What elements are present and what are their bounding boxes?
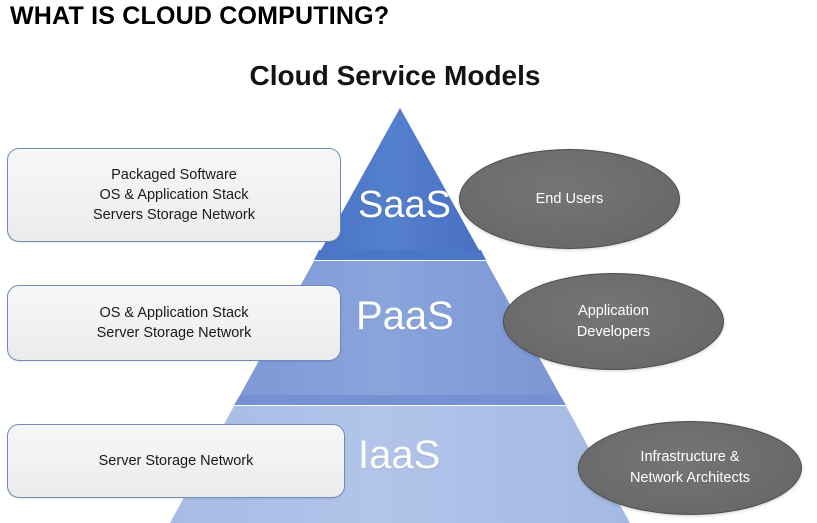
audience-ellipse-saas: End Users	[459, 149, 680, 249]
tier-label-paas: PaaS	[356, 296, 454, 336]
audience-line: End Users	[536, 189, 604, 210]
callout-box-iaas: Server Storage Network	[7, 424, 345, 498]
callout-line: Server Storage Network	[99, 451, 254, 471]
audience-line: Developers	[577, 322, 650, 343]
audience-text-paas: Application Developers	[577, 301, 650, 342]
callout-line: Servers Storage Network	[93, 205, 255, 225]
audience-line: Network Architects	[630, 468, 750, 489]
pyramid-tier-saas	[321, 108, 479, 250]
audience-line: Infrastructure &	[630, 447, 750, 468]
callout-text-paas: OS & Application Stack Server Storage Ne…	[97, 303, 252, 343]
callout-text-iaas: Server Storage Network	[99, 451, 254, 471]
callout-box-saas: Packaged Software OS & Application Stack…	[7, 148, 341, 242]
audience-text-saas: End Users	[536, 189, 604, 210]
callout-text-saas: Packaged Software OS & Application Stack…	[93, 165, 255, 225]
callout-line: OS & Application Stack	[97, 303, 252, 323]
audience-line: Application	[577, 301, 650, 322]
callout-box-paas: OS & Application Stack Server Storage Ne…	[7, 285, 341, 361]
callout-line: Server Storage Network	[97, 323, 252, 343]
tier-label-saas: SaaS	[358, 186, 451, 224]
chart-title: Cloud Service Models	[0, 60, 790, 92]
audience-ellipse-iaas: Infrastructure & Network Architects	[578, 421, 802, 515]
page-title: WHAT IS CLOUD COMPUTING?	[10, 2, 389, 31]
audience-text-iaas: Infrastructure & Network Architects	[630, 447, 750, 488]
callout-line: Packaged Software	[93, 165, 255, 185]
tier-label-iaas: IaaS	[358, 435, 440, 475]
callout-line: OS & Application Stack	[93, 185, 255, 205]
audience-ellipse-paas: Application Developers	[503, 273, 724, 370]
slide-canvas: WHAT IS CLOUD COMPUTING? Cloud Service M…	[0, 0, 817, 523]
